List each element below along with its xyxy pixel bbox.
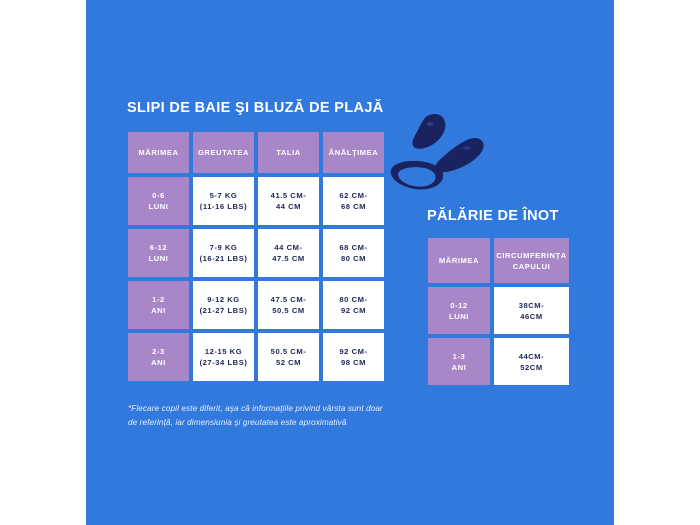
footnote-line-1: *Fiecare copil este diferit, aşa că info… xyxy=(128,402,473,416)
cell-height: 80 CM- 92 CM xyxy=(323,281,384,329)
cell-circumference: 44CM- 52CM xyxy=(494,338,569,385)
footnote-line-2: de referinţă, iar dimensiunia şi greutat… xyxy=(128,416,473,430)
cell-line: 62 CM- xyxy=(323,190,384,201)
cell-line: 9-12 KG xyxy=(193,294,254,305)
cell-line: 44 CM- xyxy=(258,242,319,253)
cell-line: LUNI xyxy=(128,253,189,264)
cell-circumference: 38CM- 46CM xyxy=(494,287,569,334)
cell-height: 62 CM- 68 CM xyxy=(323,177,384,225)
cell-line: 41.5 CM- xyxy=(258,190,319,201)
cell-line: ANI xyxy=(128,305,189,316)
cell-waist: 41.5 CM- 44 CM xyxy=(258,177,319,225)
column-header-inaltimea: ÂNĂLŢIMEA xyxy=(323,132,384,173)
cell-size: 1-3 ANI xyxy=(428,338,490,385)
cell-size: 6-12 LUNI xyxy=(128,229,189,277)
infographic-canvas: SLIPI DE BAIE ŞI BLUZĂ DE PLAJĂ MĂRIMEA … xyxy=(0,0,700,525)
column-header-marimea: MĂRIMEA xyxy=(128,132,189,173)
cell-size: 0-12 LUNI xyxy=(428,287,490,334)
page-title: SLIPI DE BAIE ŞI BLUZĂ DE PLAJĂ xyxy=(127,100,384,116)
cell-line: ANI xyxy=(128,357,189,368)
table-row: 1-3 ANI 44CM- 52CM xyxy=(428,338,569,385)
cell-size: 2-3 ANI xyxy=(128,333,189,381)
footnote: *Fiecare copil este diferit, aşa că info… xyxy=(128,402,473,431)
table-row: 0-6 LUNI 5-7 KG (11-16 LBS) 41.5 CM- 44 … xyxy=(128,177,384,225)
cell-line: 92 CM xyxy=(323,305,384,316)
cell-line: (27-34 LBS) xyxy=(193,357,254,368)
cell-line: CAPULUI xyxy=(494,261,569,272)
cell-line: 0-6 xyxy=(128,190,189,201)
cell-line: 12-15 KG xyxy=(193,346,254,357)
cell-line: 44 CM xyxy=(258,201,319,212)
cell-height: 68 CM- 80 CM xyxy=(323,229,384,277)
cell-line: 52CM xyxy=(494,362,569,373)
cell-waist: 50.5 CM- 52 CM xyxy=(258,333,319,381)
cell-line: 47.5 CM- xyxy=(258,294,319,305)
cell-line: 2-3 xyxy=(128,346,189,357)
cell-line: CIRCUMFERINŢA xyxy=(494,250,569,261)
cell-line: 46CM xyxy=(494,311,569,322)
cell-line: 50.5 CM- xyxy=(258,346,319,357)
cell-line: 92 CM- xyxy=(323,346,384,357)
cell-line: ANI xyxy=(428,362,490,373)
cell-line: LUNI xyxy=(428,311,490,322)
cell-line: 80 CM xyxy=(323,253,384,264)
cell-line: 80 CM- xyxy=(323,294,384,305)
table-row: 0-12 LUNI 38CM- 46CM xyxy=(428,287,569,334)
cell-line: 52 CM xyxy=(258,357,319,368)
cell-line: 7-9 KG xyxy=(193,242,254,253)
cell-weight: 12-15 KG (27-34 LBS) xyxy=(193,333,254,381)
cell-line: 98 CM xyxy=(323,357,384,368)
cell-waist: 44 CM- 47.5 CM xyxy=(258,229,319,277)
cell-weight: 5-7 KG (11-16 LBS) xyxy=(193,177,254,225)
cell-height: 92 CM- 98 CM xyxy=(323,333,384,381)
cell-line: 44CM- xyxy=(494,351,569,362)
cell-waist: 47.5 CM- 50.5 CM xyxy=(258,281,319,329)
table-row: 1-2 ANI 9-12 KG (21-27 LBS) 47.5 CM- 50.… xyxy=(128,281,384,329)
cell-line: (16-21 LBS) xyxy=(193,253,254,264)
cell-line: LUNI xyxy=(128,201,189,212)
cell-line: 38CM- xyxy=(494,300,569,311)
column-header-talia: TALIA xyxy=(258,132,319,173)
cell-line: 1-3 xyxy=(428,351,490,362)
cell-line: 0-12 xyxy=(428,300,490,311)
column-header-marimea: MĂRIMEA xyxy=(428,238,490,283)
cell-line: 1-2 xyxy=(128,294,189,305)
table-header-row: MĂRIMEA CIRCUMFERINŢA CAPULUI xyxy=(428,238,569,283)
cell-line: 68 CM- xyxy=(323,242,384,253)
table-header-row: MĂRIMEA GREUTATEA TALIA ÂNĂLŢIMEA xyxy=(128,132,384,173)
cell-line: 50.5 CM xyxy=(258,305,319,316)
cell-line: (21-27 LBS) xyxy=(193,305,254,316)
cell-size: 0-6 LUNI xyxy=(128,177,189,225)
cell-line: (11-16 LBS) xyxy=(193,201,254,212)
cell-line: 5-7 KG xyxy=(193,190,254,201)
swimhat-section-title: PĂLĂRIE DE ÎNOT xyxy=(427,208,559,224)
cell-line: 47.5 CM xyxy=(258,253,319,264)
cell-size: 1-2 ANI xyxy=(128,281,189,329)
cell-weight: 9-12 KG (21-27 LBS) xyxy=(193,281,254,329)
table-row: 2-3 ANI 12-15 KG (27-34 LBS) 50.5 CM- 52… xyxy=(128,333,384,381)
cell-line: 68 CM xyxy=(323,201,384,212)
cell-weight: 7-9 KG (16-21 LBS) xyxy=(193,229,254,277)
column-header-greutatea: GREUTATEA xyxy=(193,132,254,173)
swimwear-size-table: MĂRIMEA GREUTATEA TALIA ÂNĂLŢIMEA 0-6 LU… xyxy=(124,128,388,385)
column-header-circumferinta: CIRCUMFERINŢA CAPULUI xyxy=(494,238,569,283)
swimhat-size-table: MĂRIMEA CIRCUMFERINŢA CAPULUI 0-12 LUNI … xyxy=(424,234,573,389)
cell-line: 6-12 xyxy=(128,242,189,253)
table-row: 6-12 LUNI 7-9 KG (16-21 LBS) 44 CM- 47.5… xyxy=(128,229,384,277)
